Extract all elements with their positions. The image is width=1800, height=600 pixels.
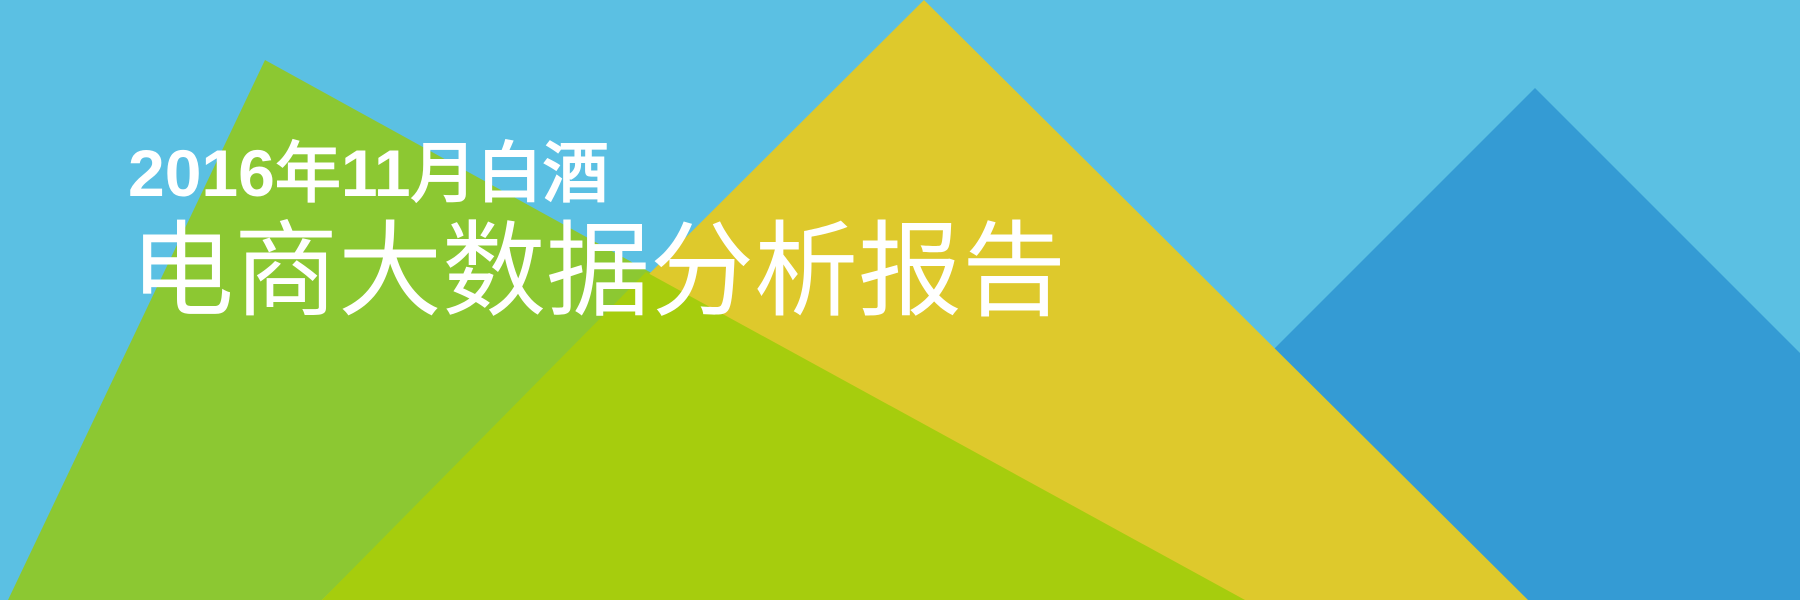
background-geometry bbox=[0, 0, 1800, 600]
report-cover-banner: 2016年11月白酒 电商大数据分析报告 bbox=[0, 0, 1800, 600]
